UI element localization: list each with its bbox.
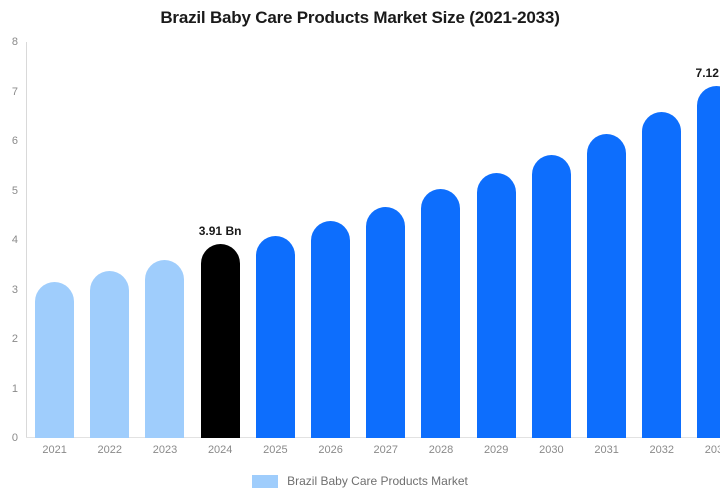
y-axis-tick-label: 2 [12, 333, 18, 345]
x-axis-tick-2022: 2022 [82, 444, 137, 456]
bar-2026[interactable] [311, 221, 350, 438]
x-axis-tick-2024: 2024 [193, 444, 248, 456]
legend-label: Brazil Baby Care Products Market [287, 474, 468, 488]
bar-slot [303, 42, 358, 438]
bar-2021[interactable] [35, 282, 74, 438]
bar-slot [27, 42, 82, 438]
bar-slot [248, 42, 303, 438]
bar-slot [524, 42, 579, 438]
bar-slot [634, 42, 689, 438]
bar-2023[interactable] [145, 260, 184, 438]
bar-slot: 7.12 Bn [689, 42, 720, 438]
x-axis-tick-2029: 2029 [469, 444, 524, 456]
bar-2027[interactable] [366, 207, 405, 438]
x-axis-tick-2031: 2031 [579, 444, 634, 456]
x-axis-tick-2023: 2023 [137, 444, 192, 456]
x-axis-tick-2025: 2025 [248, 444, 303, 456]
bar-slot [358, 42, 413, 438]
bar-2022[interactable] [90, 271, 129, 438]
x-axis-tick-2028: 2028 [413, 444, 468, 456]
y-axis-tick-label: 4 [12, 234, 18, 246]
x-axis-tick-2026: 2026 [303, 444, 358, 456]
bar-2032[interactable] [642, 112, 681, 438]
chart-title: Brazil Baby Care Products Market Size (2… [0, 8, 720, 28]
bar-slot [579, 42, 634, 438]
bar-slot [413, 42, 468, 438]
chart-legend: Brazil Baby Care Products Market [0, 474, 720, 488]
bar-slot [82, 42, 137, 438]
y-axis-tick-label: 8 [12, 36, 18, 48]
y-axis-tick-label: 0 [12, 432, 18, 444]
x-axis-tick-2027: 2027 [358, 444, 413, 456]
bar-2024[interactable]: 3.91 Bn [201, 244, 240, 438]
y-axis-tick-label: 6 [12, 135, 18, 147]
x-axis-tick-2033: 2033 [689, 444, 720, 456]
y-axis-tick-label: 3 [12, 284, 18, 296]
y-axis-tick-label: 5 [12, 185, 18, 197]
bar-value-label: 7.12 Bn [696, 66, 720, 80]
legend-swatch-icon [252, 475, 278, 488]
x-axis-tick-2030: 2030 [524, 444, 579, 456]
bar-2028[interactable] [421, 189, 460, 438]
bar-slot: 3.91 Bn [193, 42, 248, 438]
bar-value-label: 3.91 Bn [199, 224, 242, 238]
bar-2033[interactable]: 7.12 Bn [697, 86, 720, 438]
y-axis-tick-label: 7 [12, 86, 18, 98]
y-axis-tick-label: 1 [12, 383, 18, 395]
x-axis-tick-2032: 2032 [634, 444, 689, 456]
bar-slot [137, 42, 192, 438]
x-axis-tick-2021: 2021 [27, 444, 82, 456]
bar-2031[interactable] [587, 134, 626, 438]
bar-slot [469, 42, 524, 438]
plot-area: 012345678 3.91 Bn7.12 Bn [26, 42, 714, 438]
bar-2029[interactable] [477, 173, 516, 438]
bar-2025[interactable] [256, 236, 295, 438]
chart-container: Brazil Baby Care Products Market Size (2… [0, 0, 720, 500]
bar-2030[interactable] [532, 155, 571, 438]
